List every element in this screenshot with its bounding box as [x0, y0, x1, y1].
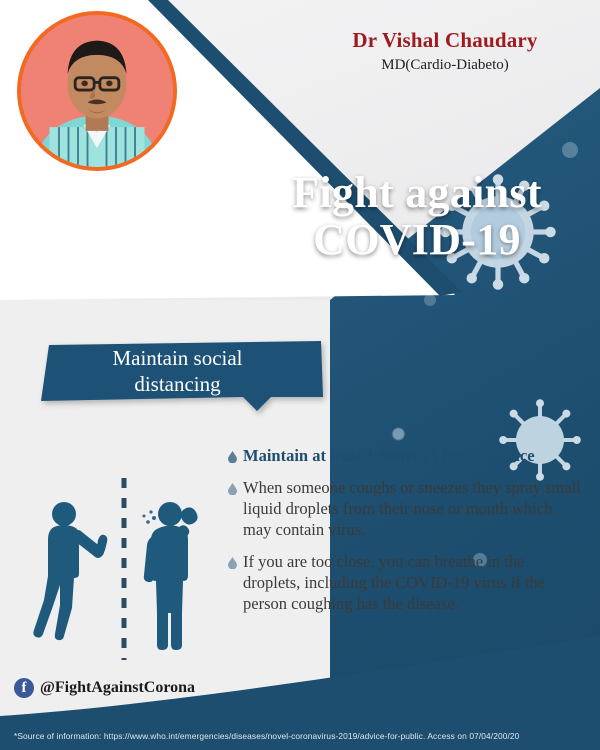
banner-line-2: distancing	[35, 372, 320, 398]
avatar	[17, 11, 177, 171]
social-handle[interactable]: f @FightAgainstCorona	[14, 678, 195, 698]
droplet-bullet-icon	[228, 478, 243, 541]
banner-text: Maintain social distancing	[35, 346, 320, 397]
list-item: If you are too close, you can breathe in…	[228, 552, 583, 615]
page-title: Fight against COVID-19	[252, 170, 582, 263]
droplet-bullet-icon	[228, 552, 243, 615]
list-item: When someone coughs or sneezes they spra…	[228, 478, 583, 541]
list-item: Maintain at least 1 metre (3 feet) dista…	[228, 446, 583, 467]
list-item-text: When someone coughs or sneezes they spra…	[243, 478, 583, 541]
doctor-portrait-icon	[21, 15, 173, 167]
source-note: *Source of information: https://www.who.…	[14, 731, 594, 741]
facebook-icon[interactable]: f	[14, 678, 34, 698]
banner-line-1: Maintain social	[35, 346, 320, 372]
doctor-degree: MD(Cardio-Diabeto)	[300, 57, 590, 74]
advice-list: Maintain at least 1 metre (3 feet) dista…	[228, 446, 583, 626]
title-line-2: COVID-19	[252, 217, 582, 264]
doctor-name: Dr Vishal Chaudary	[300, 28, 590, 53]
list-item-text: Maintain at least 1 metre (3 feet) dista…	[243, 446, 535, 467]
droplet-bullet-icon	[228, 446, 243, 467]
social-handle-text: @FightAgainstCorona	[40, 679, 195, 697]
person-stop-gesture-icon	[33, 502, 107, 640]
title-line-1: Fight against	[252, 170, 582, 217]
person-coughing-icon	[144, 502, 198, 650]
list-item-text: If you are too close, you can breathe in…	[243, 552, 583, 615]
poster: Dr Vishal Chaudary MD(Cardio-Diabeto) Fi…	[0, 0, 600, 750]
